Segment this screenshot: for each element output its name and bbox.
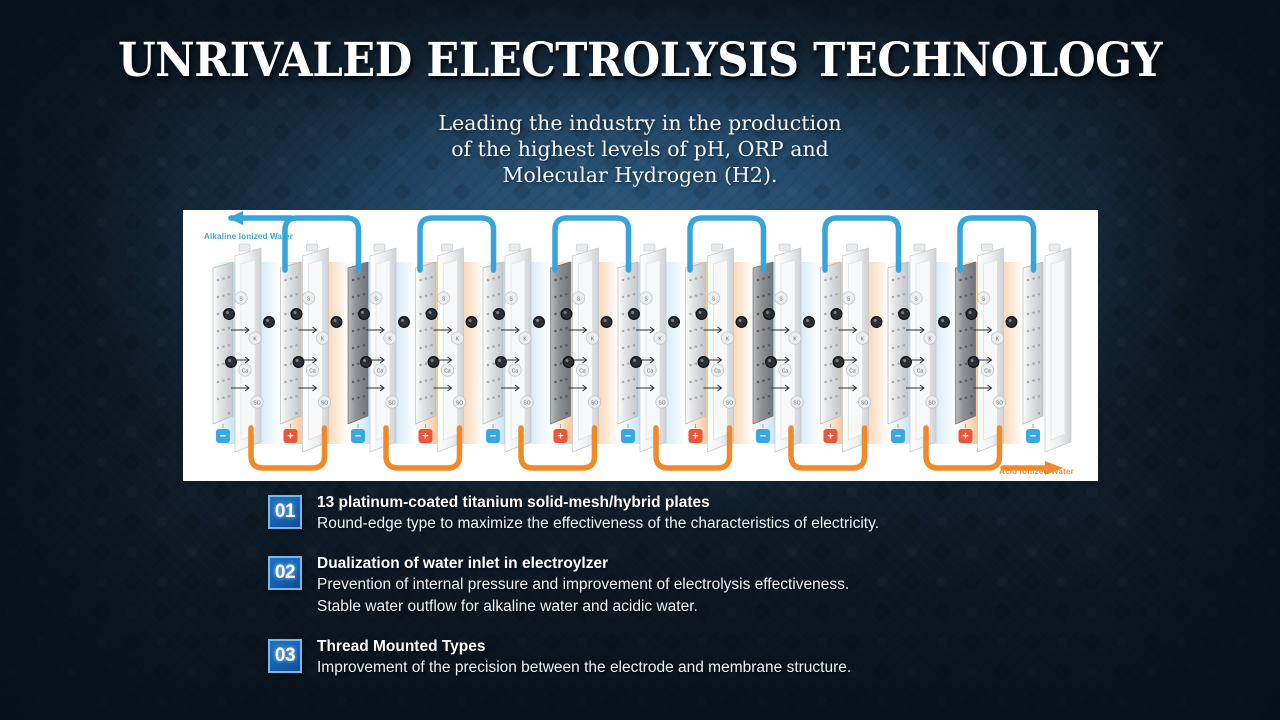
- terminal-negative: −: [486, 429, 500, 443]
- subtitle-line-3: Molecular Hydrogen (H2).: [0, 162, 1280, 188]
- plate-perforation: [295, 327, 298, 330]
- gas-bubble: [361, 357, 372, 368]
- feature-description-line: Stable water outflow for alkaline water …: [317, 596, 849, 618]
- plate-perforation: [622, 279, 625, 282]
- plate-perforation: [498, 344, 501, 347]
- terminal-sign: −: [355, 431, 361, 443]
- plate-perforation: [419, 398, 422, 401]
- plate-perforation: [970, 327, 973, 330]
- plate-perforation: [363, 327, 366, 330]
- plate-perforation: [363, 395, 366, 398]
- plate-perforation: [1038, 293, 1041, 296]
- plate-mesh: [821, 262, 841, 424]
- plate-perforation: [824, 330, 827, 333]
- plate-perforation: [498, 378, 501, 381]
- electrolysis-diagram: SKCaSOSKCaSOSKCaSOSKCaSOSKCaSOSKCaSOSKCa…: [183, 210, 1098, 481]
- gas-bubble: [833, 357, 844, 368]
- plate-perforation: [903, 395, 906, 398]
- plate-mesh: [686, 262, 706, 424]
- plate-perforation: [622, 313, 625, 316]
- terminal-sign: +: [827, 431, 833, 443]
- plate-perforation: [622, 330, 625, 333]
- plate-frame-window: [984, 260, 998, 440]
- gas-bubble: [359, 309, 370, 320]
- gas-bubble-highlight: [226, 311, 229, 314]
- plate-connector: [577, 244, 588, 251]
- gas-bubble: [264, 317, 275, 328]
- plate-perforation: [768, 344, 771, 347]
- plate-perforation: [492, 379, 495, 382]
- feature-item: 02Dualization of water inlet in electroy…: [268, 553, 1068, 618]
- plate-perforation: [970, 344, 973, 347]
- plate-perforation: [959, 347, 962, 350]
- plate-perforation: [425, 277, 428, 280]
- terminal-negative: −: [756, 429, 770, 443]
- plate-mesh: [348, 262, 368, 424]
- terminal-positive: +: [554, 429, 568, 443]
- plate-perforation: [352, 398, 355, 401]
- plate-perforation: [892, 330, 895, 333]
- plate-perforation: [965, 396, 968, 399]
- plate-perforation: [633, 327, 636, 330]
- plate-perforation: [228, 378, 231, 381]
- plate-perforation: [903, 412, 906, 415]
- gas-bubble-highlight: [498, 359, 501, 362]
- plate-perforation: [762, 277, 765, 280]
- plate-perforation: [824, 381, 827, 384]
- plate-perforation: [492, 328, 495, 331]
- plate-perforation: [970, 276, 973, 279]
- plate-perforation: [284, 347, 287, 350]
- plate-perforation: [363, 293, 366, 296]
- plate-perforation: [1032, 362, 1035, 365]
- gas-bubble-highlight: [903, 359, 906, 362]
- plate-perforation: [633, 344, 636, 347]
- terminal-positive: +: [284, 429, 298, 443]
- plate-perforation: [217, 364, 220, 367]
- gas-bubble-highlight: [806, 319, 809, 322]
- ion-label: Ca: [242, 368, 249, 374]
- gas-bubble-highlight: [294, 311, 297, 314]
- plate-perforation: [352, 347, 355, 350]
- plate-perforation: [1038, 276, 1041, 279]
- plate-perforation: [492, 277, 495, 280]
- plate-perforation: [965, 379, 968, 382]
- gas-bubble: [968, 357, 979, 368]
- plate-perforation: [892, 398, 895, 401]
- gas-bubble: [226, 357, 237, 368]
- gas-bubble: [399, 317, 410, 328]
- gas-bubble-highlight: [266, 319, 269, 322]
- plate-perforation: [492, 396, 495, 399]
- plate-perforation: [498, 327, 501, 330]
- plate-perforation: [897, 345, 900, 348]
- plate-perforation: [622, 296, 625, 299]
- plate-perforation: [633, 276, 636, 279]
- gas-bubble-highlight: [1009, 319, 1012, 322]
- alkaline-arrow-head: [228, 211, 243, 225]
- plate-frame-window: [849, 260, 863, 440]
- slide-subtitle: Leading the industry in the production o…: [0, 110, 1280, 188]
- plate-perforation: [824, 347, 827, 350]
- gas-bubble-highlight: [296, 359, 299, 362]
- plate-perforation: [217, 313, 220, 316]
- plate-frame-window: [781, 260, 795, 440]
- terminal-negative: −: [216, 429, 230, 443]
- feature-text: Dualization of water inlet in electroylz…: [317, 553, 849, 618]
- gas-bubble: [426, 309, 437, 320]
- plate-perforation: [768, 293, 771, 296]
- plate-perforation: [228, 395, 231, 398]
- plate-perforation: [757, 364, 760, 367]
- electrode-plate: [956, 244, 1004, 452]
- plate-perforation: [363, 344, 366, 347]
- plate-perforation: [762, 294, 765, 297]
- gas-bubble-highlight: [363, 359, 366, 362]
- plate-perforation: [835, 327, 838, 330]
- plate-perforation: [700, 395, 703, 398]
- plate-perforation: [1038, 310, 1041, 313]
- gas-bubble-highlight: [228, 359, 231, 362]
- plate-perforation: [627, 396, 630, 399]
- plate-perforation: [565, 378, 568, 381]
- plate-perforation: [762, 379, 765, 382]
- plate-perforation: [695, 277, 698, 280]
- ion-label: SO: [321, 400, 328, 406]
- plate-perforation: [1032, 294, 1035, 297]
- plate-perforation: [1032, 396, 1035, 399]
- plate-perforation: [352, 296, 355, 299]
- electrode-plate: [821, 244, 869, 452]
- plate-perforation: [554, 296, 557, 299]
- plate-perforation: [228, 412, 231, 415]
- plate-perforation: [897, 396, 900, 399]
- plate-perforation: [284, 296, 287, 299]
- plate-perforation: [689, 296, 692, 299]
- plate-perforation: [357, 294, 360, 297]
- plate-perforation: [352, 381, 355, 384]
- plate-connector: [644, 244, 655, 251]
- plate-perforation: [892, 313, 895, 316]
- plate-perforation: [757, 398, 760, 401]
- plate-perforation: [622, 347, 625, 350]
- terminal-sign: −: [625, 431, 631, 443]
- plate-mesh: [551, 262, 571, 424]
- plate-perforation: [487, 330, 490, 333]
- gas-bubble: [804, 317, 815, 328]
- gas-bubble: [291, 309, 302, 320]
- plate-perforation: [560, 328, 563, 331]
- plate-perforation: [700, 293, 703, 296]
- plate-frame-window: [916, 260, 930, 440]
- plate-perforation: [284, 398, 287, 401]
- plate-perforation: [222, 345, 225, 348]
- plate-perforation: [430, 412, 433, 415]
- terminal-negative: −: [621, 429, 635, 443]
- plate-perforation: [824, 313, 827, 316]
- gas-bubble: [669, 317, 680, 328]
- plate-perforation: [762, 328, 765, 331]
- plate-perforation: [222, 294, 225, 297]
- plate-perforation: [700, 327, 703, 330]
- plate-perforation: [290, 277, 293, 280]
- ion-label: SO: [726, 400, 733, 406]
- plate-perforation: [970, 412, 973, 415]
- plate-perforation: [425, 294, 428, 297]
- gas-bubble-highlight: [564, 311, 567, 314]
- plate-perforation: [290, 328, 293, 331]
- gas-bubble-highlight: [469, 319, 472, 322]
- plate-perforation: [357, 277, 360, 280]
- plate-perforation: [897, 277, 900, 280]
- plate-perforation: [903, 276, 906, 279]
- feature-item: 0113 platinum-coated titanium solid-mesh…: [268, 492, 1068, 535]
- plate-perforation: [290, 396, 293, 399]
- plate-perforation: [352, 279, 355, 282]
- plate-frame-window: [309, 260, 323, 440]
- plate-frame-window: [579, 260, 593, 440]
- plate-perforation: [830, 396, 833, 399]
- plate-connector: [914, 244, 925, 251]
- plate-perforation: [830, 277, 833, 280]
- plate-mesh: [618, 262, 638, 424]
- gas-bubble-highlight: [566, 359, 569, 362]
- ion-label: Ca: [917, 368, 924, 374]
- ion-label: Ca: [647, 368, 654, 374]
- plate-perforation: [903, 378, 906, 381]
- plate-perforation: [554, 279, 557, 282]
- gas-bubble-highlight: [834, 311, 837, 314]
- gas-bubble: [631, 357, 642, 368]
- ion-label: SO: [793, 400, 800, 406]
- plate-connector: [374, 244, 385, 251]
- plate-mesh: [281, 262, 301, 424]
- plate-perforation: [892, 279, 895, 282]
- plate-perforation: [222, 277, 225, 280]
- electrode-plate: [551, 244, 599, 452]
- plate-perforation: [959, 296, 962, 299]
- plate-mesh: [753, 262, 773, 424]
- gas-bubble: [534, 317, 545, 328]
- plate-perforation: [419, 330, 422, 333]
- plate-perforation: [695, 294, 698, 297]
- plate-perforation: [959, 330, 962, 333]
- feature-number-badge: 03: [268, 639, 302, 673]
- gas-bubble: [764, 309, 775, 320]
- plate-perforation: [768, 327, 771, 330]
- gas-bubble-highlight: [701, 359, 704, 362]
- ion-label: Ca: [984, 368, 991, 374]
- plate-perforation: [970, 293, 973, 296]
- electrode-plate: [1023, 244, 1071, 452]
- plate-perforation: [565, 412, 568, 415]
- plate-mesh: [416, 262, 436, 424]
- plate-perforation: [830, 362, 833, 365]
- plate-perforation: [1027, 313, 1030, 316]
- gas-bubble: [496, 357, 507, 368]
- plate-perforation: [689, 313, 692, 316]
- plate-perforation: [965, 328, 968, 331]
- plate-perforation: [757, 381, 760, 384]
- plate-perforation: [492, 362, 495, 365]
- plate-perforation: [959, 364, 962, 367]
- plate-perforation: [554, 398, 557, 401]
- terminal-positive: +: [689, 429, 703, 443]
- gas-bubble-highlight: [874, 319, 877, 322]
- plate-frame-window: [376, 260, 390, 440]
- feature-number-badge: 01: [268, 495, 302, 529]
- plate-perforation: [295, 412, 298, 415]
- plate-perforation: [290, 362, 293, 365]
- plate-perforation: [425, 379, 428, 382]
- plate-perforation: [903, 344, 906, 347]
- ion-label: Ca: [849, 368, 856, 374]
- gas-bubble: [601, 317, 612, 328]
- plate-perforation: [295, 344, 298, 347]
- plate-mesh: [1023, 262, 1043, 424]
- gas-bubble-highlight: [969, 311, 972, 314]
- plate-perforation: [357, 396, 360, 399]
- plate-perforation: [284, 279, 287, 282]
- plate-perforation: [897, 362, 900, 365]
- plate-perforation: [689, 330, 692, 333]
- plate-perforation: [352, 364, 355, 367]
- plate-perforation: [284, 330, 287, 333]
- plate-mesh: [213, 262, 233, 424]
- plate-perforation: [1032, 328, 1035, 331]
- gas-bubble-highlight: [766, 311, 769, 314]
- plate-perforation: [498, 293, 501, 296]
- ion-label: SO: [523, 400, 530, 406]
- plate-perforation: [425, 328, 428, 331]
- plate-perforation: [1038, 361, 1041, 364]
- plate-perforation: [700, 276, 703, 279]
- subtitle-line-1: Leading the industry in the production: [0, 110, 1280, 136]
- feature-text: Thread Mounted TypesImprovement of the p…: [317, 636, 851, 679]
- gas-bubble: [901, 357, 912, 368]
- gas-bubble-highlight: [836, 359, 839, 362]
- gas-bubble: [698, 357, 709, 368]
- plate-perforation: [762, 396, 765, 399]
- feature-list: 0113 platinum-coated titanium solid-mesh…: [268, 492, 1068, 679]
- terminal-sign: −: [490, 431, 496, 443]
- plate-perforation: [217, 296, 220, 299]
- plate-perforation: [695, 396, 698, 399]
- terminal-negative: −: [351, 429, 365, 443]
- plate-perforation: [560, 362, 563, 365]
- gas-bubble-highlight: [361, 311, 364, 314]
- gas-bubble-highlight: [496, 311, 499, 314]
- plate-perforation: [565, 395, 568, 398]
- gas-bubble-highlight: [901, 311, 904, 314]
- plate-perforation: [487, 364, 490, 367]
- plate-perforation: [897, 379, 900, 382]
- plate-perforation: [1027, 330, 1030, 333]
- feature-title: 13 platinum-coated titanium solid-mesh/h…: [317, 492, 879, 513]
- gas-bubble: [1006, 317, 1017, 328]
- plate-perforation: [560, 277, 563, 280]
- plate-perforation: [430, 378, 433, 381]
- plate-perforation: [430, 327, 433, 330]
- plate-connector: [982, 244, 993, 251]
- plate-perforation: [959, 398, 962, 401]
- plate-connector: [847, 244, 858, 251]
- plate-perforation: [622, 381, 625, 384]
- ion-label: Ca: [512, 368, 519, 374]
- plate-perforation: [835, 293, 838, 296]
- gas-bubble-highlight: [633, 359, 636, 362]
- plate-perforation: [824, 279, 827, 282]
- electrode-plate: [888, 244, 936, 452]
- terminal-positive: +: [959, 429, 973, 443]
- plate-perforation: [363, 378, 366, 381]
- plate-perforation: [284, 364, 287, 367]
- feature-item: 03Thread Mounted TypesImprovement of the…: [268, 636, 1068, 679]
- gas-bubble: [939, 317, 950, 328]
- plate-perforation: [357, 345, 360, 348]
- plate-perforation: [633, 395, 636, 398]
- plate-perforation: [357, 379, 360, 382]
- plate-perforation: [425, 362, 428, 365]
- plate-perforation: [633, 293, 636, 296]
- ion-label: SO: [388, 400, 395, 406]
- plate-perforation: [627, 328, 630, 331]
- gas-bubble: [224, 309, 235, 320]
- gas-bubble: [293, 357, 304, 368]
- plate-perforation: [357, 362, 360, 365]
- ion-label: SO: [591, 400, 598, 406]
- plate-perforation: [419, 364, 422, 367]
- plate-frame-window: [714, 260, 728, 440]
- gas-bubble: [831, 309, 842, 320]
- gas-bubble-highlight: [631, 311, 634, 314]
- plate-perforation: [352, 313, 355, 316]
- terminal-sign: +: [287, 431, 293, 443]
- plate-perforation: [217, 381, 220, 384]
- plate-perforation: [430, 276, 433, 279]
- plate-perforation: [565, 276, 568, 279]
- plate-perforation: [700, 378, 703, 381]
- plate-perforation: [290, 379, 293, 382]
- plate-perforation: [498, 276, 501, 279]
- plate-perforation: [689, 347, 692, 350]
- plate-perforation: [228, 276, 231, 279]
- plate-perforation: [419, 313, 422, 316]
- gas-bubble-highlight: [739, 319, 742, 322]
- gas-bubble-highlight: [941, 319, 944, 322]
- feature-number-badge: 02: [268, 556, 302, 590]
- plate-perforation: [419, 296, 422, 299]
- plate-perforation: [1032, 345, 1035, 348]
- plate-perforation: [757, 330, 760, 333]
- plate-connector: [1049, 244, 1060, 251]
- plate-perforation: [965, 362, 968, 365]
- plate-perforation: [903, 293, 906, 296]
- plate-perforation: [560, 396, 563, 399]
- plate-perforation: [970, 395, 973, 398]
- terminal-sign: +: [557, 431, 563, 443]
- plate-perforation: [222, 362, 225, 365]
- plate-perforation: [959, 313, 962, 316]
- ion-label: SO: [658, 400, 665, 406]
- ion-label: SO: [996, 400, 1003, 406]
- plate-perforation: [689, 279, 692, 282]
- plate-perforation: [700, 412, 703, 415]
- plate-mesh: [888, 262, 908, 424]
- feature-title: Thread Mounted Types: [317, 636, 851, 657]
- plate-perforation: [222, 379, 225, 382]
- plate-perforation: [554, 313, 557, 316]
